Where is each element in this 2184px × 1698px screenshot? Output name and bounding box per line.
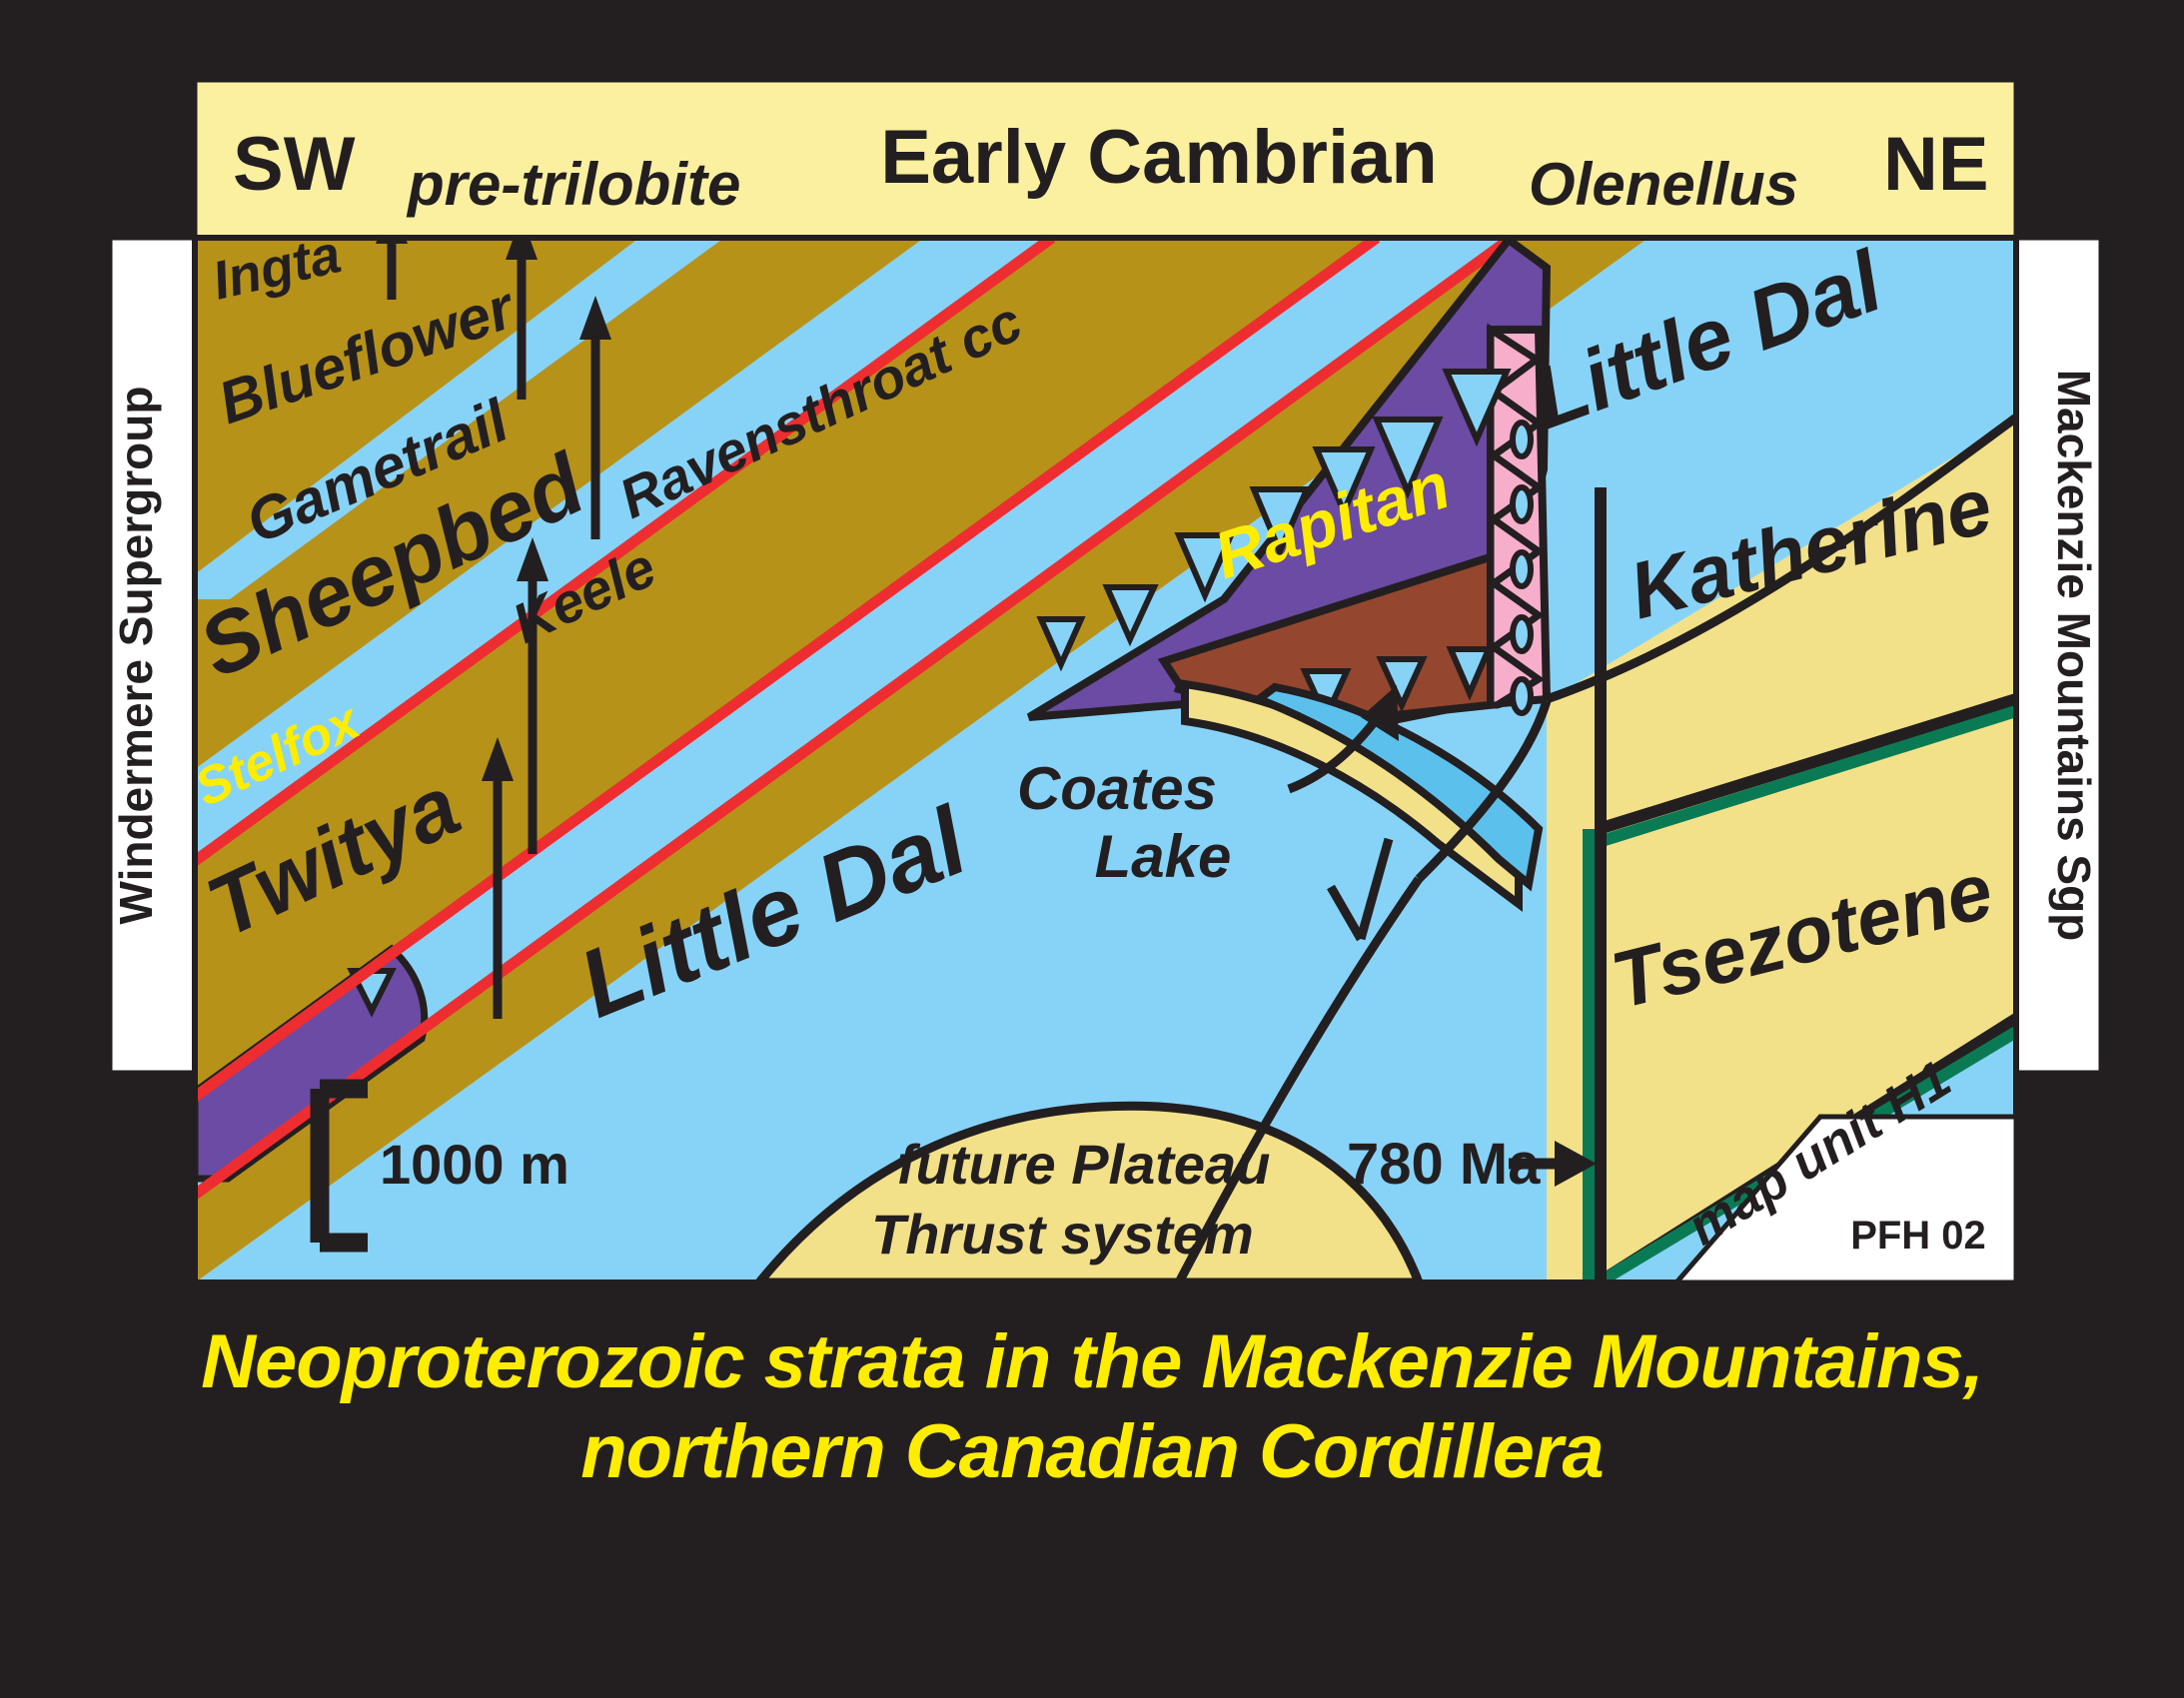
- pre-trilobite-label: pre-trilobite: [406, 151, 740, 218]
- label-thrust-line2: Thrust system: [871, 1203, 1254, 1266]
- caption-line-1: Neoproterozoic strata in the Mackenzie M…: [0, 1320, 2184, 1404]
- direction-label-ne: NE: [1883, 122, 1989, 207]
- right-sidebar-label: Mackenzie Mountains Sgp: [2048, 370, 2100, 942]
- clast-icon: [1513, 679, 1531, 713]
- direction-label-sw: SW: [233, 122, 356, 207]
- age-title: Early Cambrian: [880, 115, 1438, 200]
- left-sidebar-label: Windermere Supergroup: [110, 387, 162, 925]
- figure-root: Windermere Supergroup Mackenzie Mountain…: [0, 0, 2184, 1698]
- olenellus-label: Olenellus: [1529, 151, 1798, 218]
- label-thrust-line1: future Plateau: [897, 1133, 1270, 1196]
- clast-icon: [1513, 423, 1531, 456]
- clast-icon: [1513, 552, 1531, 586]
- clast-icon: [1513, 487, 1531, 521]
- clast-icon: [1513, 617, 1531, 651]
- label-coates-lake-line1: Coates: [1017, 755, 1217, 822]
- label-scale-bar: 1000 m: [380, 1133, 569, 1196]
- credit-label: PFH 02: [1850, 1214, 1986, 1258]
- label-780ma: 780 Ma: [1347, 1132, 1541, 1197]
- label-coates-lake-line2: Lake: [1095, 823, 1232, 890]
- caption-line-2: northern Canadian Cordillera: [0, 1410, 2184, 1494]
